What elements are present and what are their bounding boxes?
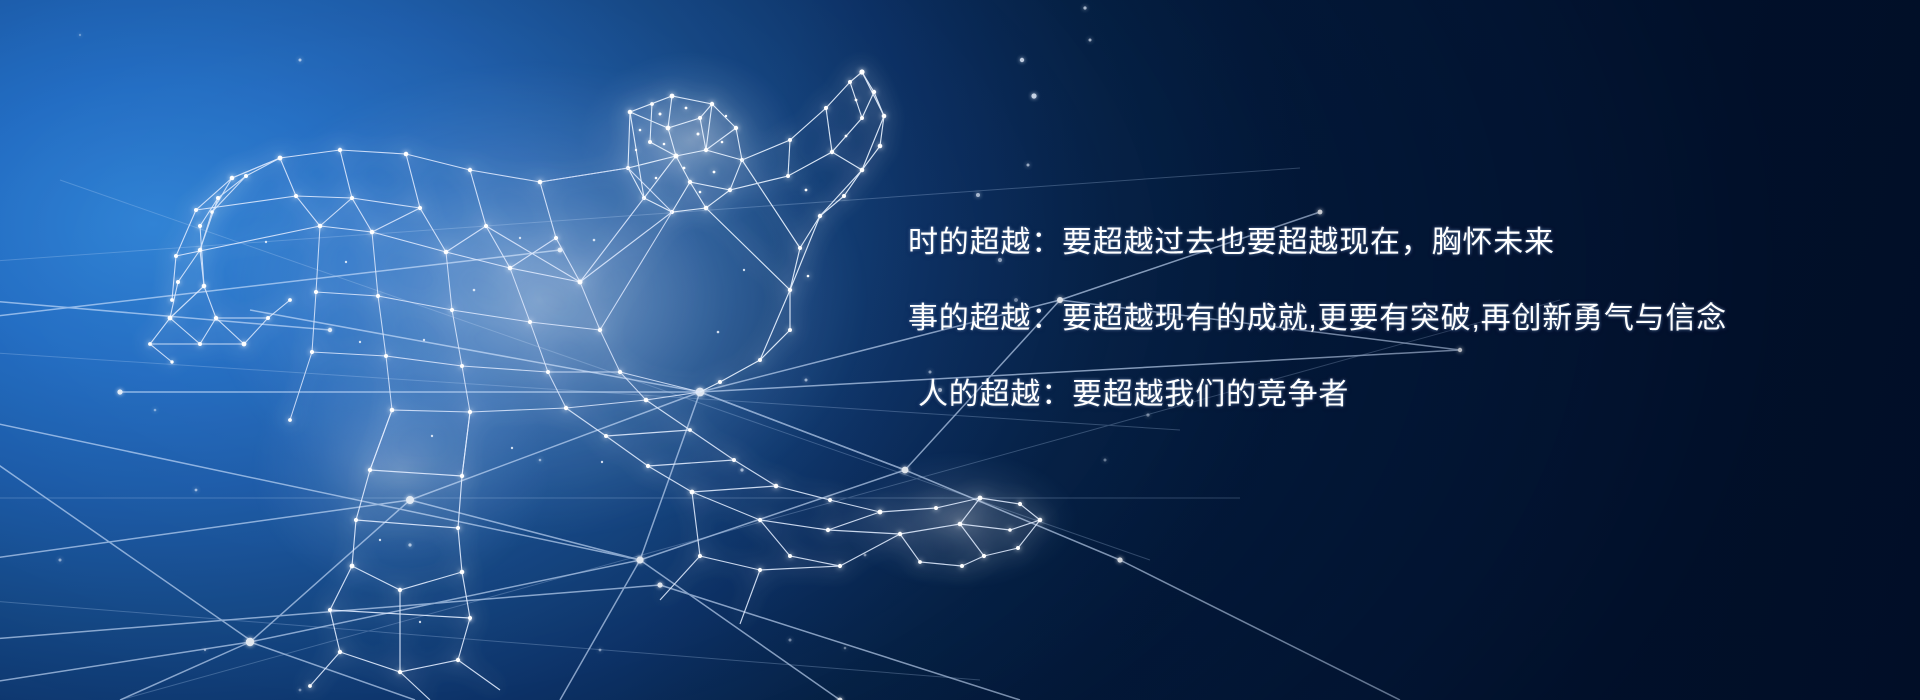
quote-text-block: 时的超越：要超越过去也要超越现在，胸怀未来 事的超越：要超越现有的成就,更要有突…: [908, 228, 1808, 410]
hero-banner: 时的超越：要超越过去也要超越现在，胸怀未来 事的超越：要超越现有的成就,更要有突…: [0, 0, 1920, 700]
quote-line-people: 人的超越：要超越我们的竞争者: [918, 380, 1808, 410]
quote-line-achievement: 事的超越：要超越现有的成就,更要有突破,再创新勇气与信念: [908, 304, 1808, 334]
quote-line-time: 时的超越：要超越过去也要超越现在，胸怀未来: [908, 228, 1808, 258]
